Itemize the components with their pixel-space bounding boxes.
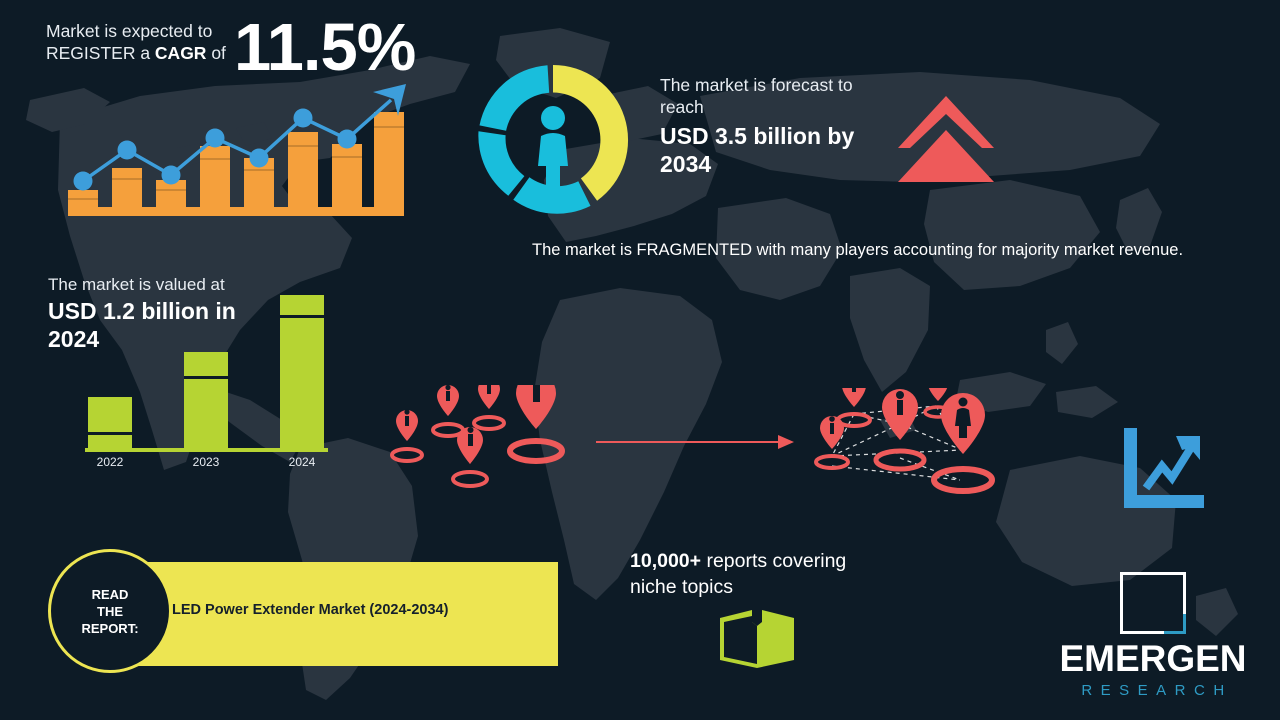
- green-chart-label-2023: 2023: [176, 455, 236, 469]
- cagr-label-line1: Market is expected to: [46, 21, 212, 41]
- person-icon: [538, 106, 568, 188]
- valuation-label: The market is valued at: [48, 274, 225, 295]
- forecast-value: USD 3.5 billion by 2034: [660, 122, 890, 178]
- emergen-research-logo: EMERGEN RESEARCH: [1058, 572, 1248, 702]
- report-title: LED Power Extender Market (2024-2034): [172, 602, 448, 618]
- bar-chart-baseline: [68, 207, 404, 216]
- logo-subtitle: RESEARCH: [1058, 682, 1248, 699]
- up-chevron-icon: [894, 92, 998, 186]
- transition-arrow-icon: [596, 432, 796, 452]
- fragmented-market-statement: The market is FRAGMENTED with many playe…: [532, 238, 1222, 262]
- infographic-canvas: Market is expected to REGISTER a CAGR of…: [0, 0, 1280, 720]
- green-bar-2022: [88, 397, 132, 450]
- forecast-label: The market is forecast to reach: [660, 74, 895, 118]
- badge-line-2: THE: [97, 604, 123, 619]
- cagr-label-bold: CAGR: [155, 43, 207, 63]
- growth-chart-icon: [1120, 428, 1204, 512]
- green-bar-2023: [184, 352, 228, 450]
- market-share-donut-chart: [468, 55, 638, 225]
- cagr-label-line2-pre: REGISTER a: [46, 43, 155, 63]
- open-book-icon: [718, 608, 796, 670]
- badge-line-1: READ: [92, 587, 129, 602]
- green-chart-label-2024: 2024: [272, 455, 332, 469]
- reports-count: 10,000+: [630, 550, 701, 572]
- read-the-report-badge[interactable]: READ THE REPORT:: [48, 549, 172, 673]
- trend-line-overlay: [68, 66, 413, 216]
- logo-name: EMERGEN: [1058, 638, 1248, 680]
- cagr-label-line2-post: of: [206, 43, 225, 63]
- badge-line-3: REPORT:: [81, 621, 138, 636]
- market-value-bar-chart: [88, 295, 328, 450]
- read-the-report-label: READ THE REPORT:: [81, 586, 138, 637]
- green-bar-2024: [280, 295, 324, 450]
- growth-trend-bar-chart: [68, 88, 408, 216]
- green-chart-label-2022: 2022: [80, 455, 140, 469]
- green-chart-baseline: [85, 448, 328, 452]
- connected-location-pins-network: [810, 388, 1010, 500]
- reports-count-statement: 10,000+ reports covering niche topics: [630, 548, 890, 600]
- logo-accent-corner: [1164, 614, 1186, 634]
- scattered-location-pins: [385, 385, 585, 497]
- logo-square-icon: [1120, 572, 1186, 634]
